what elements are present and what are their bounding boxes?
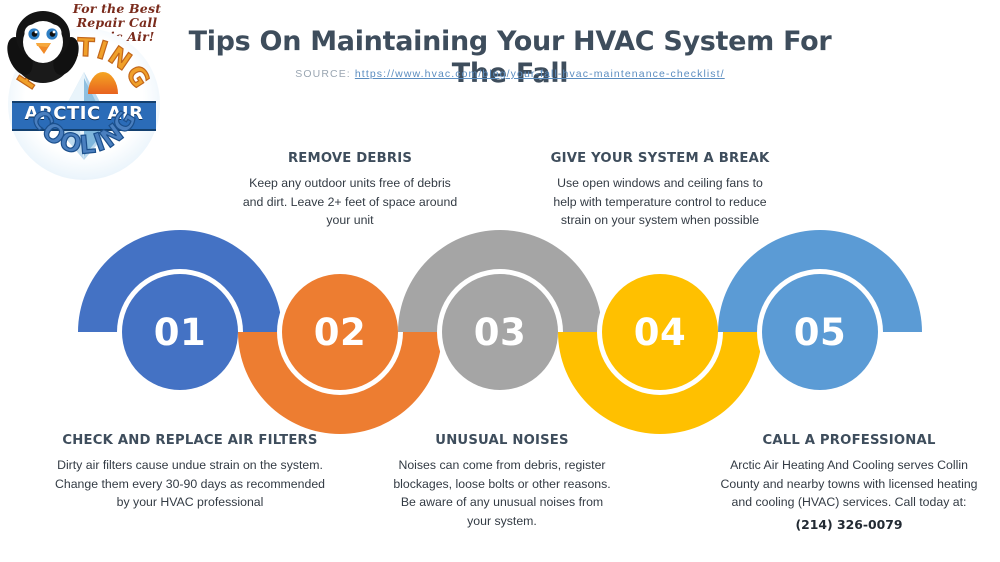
source-line: SOURCE: https://www.hvac.com/blog/your-f… <box>160 66 860 82</box>
step-caption-body-05: Arctic Air Heating And Cooling serves Co… <box>714 456 984 512</box>
step-caption-heading-01: CHECK AND REPLACE AIR FILTERS <box>50 432 330 450</box>
step-caption-heading-04: GIVE YOUR SYSTEM A BREAK <box>548 150 772 168</box>
svg-text:COOLING: COOLING <box>25 108 143 160</box>
penguin-mascot-icon <box>6 2 80 84</box>
source-url-link[interactable]: https://www.hvac.com/blog/your-fall-hvac… <box>355 68 725 80</box>
step-caption-03: UNUSUAL NOISES Noises can come from debr… <box>392 432 612 530</box>
step-caption-05: CALL A PROFESSIONAL Arctic Air Heating A… <box>714 432 984 534</box>
step-caption-04: GIVE YOUR SYSTEM A BREAK Use open window… <box>548 150 772 230</box>
step-caption-body-04: Use open windows and ceiling fans to hel… <box>548 174 772 230</box>
step-number-03: 03 <box>440 313 560 353</box>
step-number-01: 01 <box>120 313 240 353</box>
step-caption-heading-02: REMOVE DEBRIS <box>242 150 458 168</box>
step-caption-heading-05: CALL A PROFESSIONAL <box>714 432 984 450</box>
contact-phone-number[interactable]: (214) 326-0079 <box>714 515 984 534</box>
logo-cooling-arc-text: COOLING <box>16 108 152 182</box>
step-caption-body-03: Noises can come from debris, register bl… <box>392 456 612 530</box>
step-caption-body-01: Dirty air filters cause undue strain on … <box>50 456 330 512</box>
step-number-04: 04 <box>600 313 720 353</box>
step-caption-body-02: Keep any outdoor units free of debris an… <box>242 174 458 230</box>
step-caption-heading-03: UNUSUAL NOISES <box>392 432 612 450</box>
step-number-02: 02 <box>280 313 400 353</box>
step-number-05: 05 <box>760 313 880 353</box>
step-caption-01: CHECK AND REPLACE AIR FILTERS Dirty air … <box>50 432 330 512</box>
source-label: SOURCE: <box>295 68 351 80</box>
company-logo: For the Best Repair Call Arctic Air! HEA… <box>0 0 178 232</box>
infographic-page: For the Best Repair Call Arctic Air! HEA… <box>0 0 1000 562</box>
step-caption-02: REMOVE DEBRIS Keep any outdoor units fre… <box>242 150 458 230</box>
